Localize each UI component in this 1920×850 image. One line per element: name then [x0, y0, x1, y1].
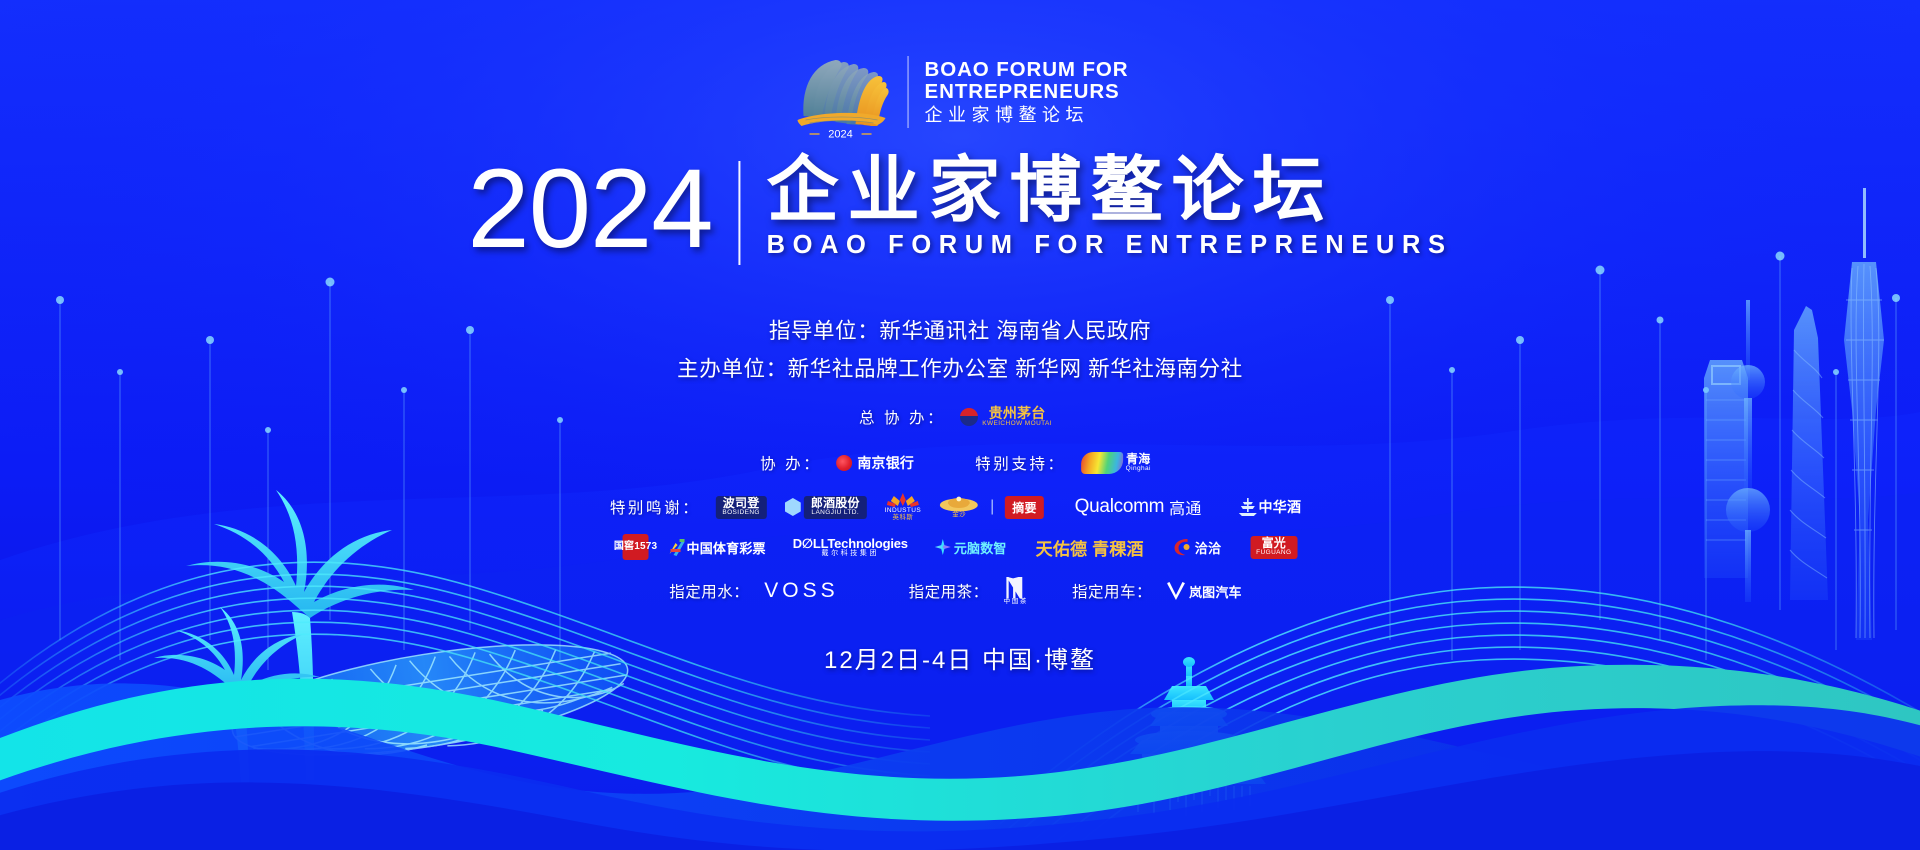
voss-logo-en: VOSS: [764, 579, 838, 603]
qualcomm-logo-en: Qualcomm: [1075, 496, 1164, 518]
qiaqia-logo[interactable]: 洽洽: [1173, 532, 1221, 562]
lockup-en-line1: BOAO FORUM FOR: [925, 59, 1129, 81]
bosideng-logo[interactable]: 波司登 BOSIDENG: [715, 494, 767, 520]
lockup-divider: [908, 56, 909, 128]
sponsor-row-xieban: 协 办： 南京银行 特别支持： 青海 Qinghai: [760, 448, 1160, 478]
sponsor-row-zongxieban-label: 总 协 办：: [859, 406, 945, 428]
zhonghua-jiu-logo[interactable]: 中华酒: [1237, 492, 1302, 522]
langjiu-logo-cn: 郎酒股份: [811, 497, 860, 510]
guojiao-logo-cn: 国窖1573: [614, 542, 657, 553]
forum-emblem-icon: 2024: [792, 46, 892, 138]
bank-of-nanjing-logo[interactable]: 南京银行: [836, 448, 914, 478]
tianyoude-logo-cn: 天佑德 青稞酒: [1036, 535, 1144, 560]
moutai-logo-en: KWEICHOW MOUTAI: [982, 421, 1052, 428]
qiaqia-logo-cn: 洽洽: [1195, 538, 1221, 557]
indus-burst-icon: [886, 492, 920, 508]
tianyoude-logo[interactable]: 天佑德 青稞酒: [1036, 532, 1144, 562]
zhuyeqing-logo-en: 中国茶: [1004, 599, 1028, 606]
qinghai-logo-en: Qinghai: [1126, 466, 1151, 473]
kweichow-moutai-logo[interactable]: 贵州茅台 KWEICHOW MOUTAI: [960, 402, 1052, 432]
qinghai-ribbon-icon: [1081, 452, 1123, 474]
sponsor-row-special-support-label: 特别支持：: [975, 452, 1066, 474]
jinsha-crown-icon: [939, 496, 979, 512]
dell-logo-en: D∅LLTechnologies: [793, 537, 908, 551]
sponsor-row-xieban-label: 协 办：: [760, 452, 821, 474]
poster-stage: 2024 BOAO FORUM FOR ENTREPRENEURS 企业家博鳌论…: [0, 0, 1920, 850]
forum-logo-lockup: 2024 BOAO FORUM FOR ENTREPRENEURS 企业家博鳌论…: [792, 46, 1129, 138]
zhonghua-jiu-logo-cn: 中华酒: [1259, 497, 1302, 517]
yuannao-logo[interactable]: 元脑数智: [935, 534, 1007, 560]
designated-car-label: 指定用车：: [1072, 580, 1152, 602]
sponsor-row-mingxie-label: 特别鸣谢：: [610, 496, 701, 518]
designated-tea-label: 指定用茶：: [909, 580, 989, 602]
zhaiyao-logo-cn: 摘要: [1012, 499, 1036, 516]
moutai-seal-icon: [960, 408, 978, 426]
hero-year: 2024: [467, 155, 738, 263]
indus-logo[interactable]: INDUSTUS 英科斯: [885, 494, 921, 520]
fuguang-logo-en: FUGUANG: [1256, 550, 1291, 557]
bank-of-nanjing-logo-cn: 南京银行: [857, 453, 914, 473]
hero-title-en: BOAO FORUM FOR ENTREPRENEURS: [767, 231, 1453, 260]
qualcomm-logo-cn: 高通: [1169, 495, 1201, 519]
sponsor-row-mingxie-2: 国窖1573 中国体育彩票 D∅LLTechnologies 戴尔科技集团: [614, 532, 1307, 562]
voyah-logo[interactable]: 岚图汽车: [1167, 576, 1242, 606]
emblem-year-text: 2024: [828, 129, 852, 139]
dell-technologies-logo[interactable]: D∅LLTechnologies 戴尔科技集团: [793, 534, 908, 560]
china-sports-lottery-logo[interactable]: 中国体育彩票: [667, 534, 766, 560]
nanjing-rose-icon: [836, 455, 852, 471]
langjiu-mark-icon: [785, 498, 801, 516]
voyah-logo-cn: 岚图汽车: [1189, 582, 1242, 601]
yuannao-logo-cn: 元脑数智: [954, 538, 1007, 557]
moutai-logo-cn: 贵州茅台: [989, 406, 1046, 421]
indus-logo-cn: 英科斯: [893, 515, 914, 522]
china-sports-lottery-logo-cn: 中国体育彩票: [687, 538, 766, 557]
langjiu-logo-en: LANGJIU LTD.: [811, 510, 859, 517]
sponsor-row-mingxie-1: 特别鸣谢： 波司登 BOSIDENG 郎酒股份 LANGJIU LTD.: [610, 492, 1310, 522]
hero-title-block: 2024 企业家博鳌论坛 BOAO FORUM FOR ENTREPRENEUR…: [467, 155, 1452, 265]
jinsha-logo-cn: 金沙: [952, 512, 966, 519]
zhonghua-ship-icon: [1237, 496, 1259, 518]
yuannao-star-icon: [935, 539, 951, 555]
sponsor-row-zongxieban: 总 协 办： 贵州茅台 KWEICHOW MOUTAI: [859, 402, 1061, 432]
sponsor-row-designated: 指定用水： VOSS 指定用茶： 中国茶 指定用车： 岚图汽车: [669, 576, 1251, 606]
date-location-line: 12月2日-4日 中国·博鳌: [824, 640, 1096, 675]
designated-water-label: 指定用水：: [669, 580, 749, 602]
zhaiyao-logo[interactable]: 摘要: [1005, 494, 1043, 520]
host-unit-line: 主办单位：新华社品牌工作办公室 新华网 新华社海南分社: [677, 352, 1243, 383]
voyah-mark-icon: [1167, 582, 1185, 600]
zhuyeqing-bamboo-icon: [1004, 577, 1024, 599]
guidance-unit-line: 指导单位：新华通讯社 海南省人民政府: [769, 314, 1151, 345]
qinghai-logo-cn: 青海: [1126, 453, 1150, 466]
guojiao-logo[interactable]: 国窖1573: [623, 534, 649, 560]
bosideng-logo-cn: 波司登: [723, 497, 760, 510]
qualcomm-logo[interactable]: Qualcomm 高通: [1075, 492, 1202, 522]
hero-title-cn: 企业家博鳌论坛: [767, 155, 1453, 227]
langjiu-logo[interactable]: 郎酒股份 LANGJIU LTD.: [785, 494, 867, 520]
jinsha-logo[interactable]: 金沙: [939, 494, 979, 520]
sports-lottery-mark-icon: [667, 537, 687, 557]
bosideng-logo-en: BOSIDENG: [722, 510, 760, 517]
dell-logo-cn: 戴尔科技集团: [821, 550, 879, 557]
qiaqia-mark-icon: [1173, 537, 1195, 557]
zhuyeqing-logo[interactable]: 中国茶: [1004, 576, 1028, 606]
fuguang-logo-cn: 富光: [1262, 537, 1286, 550]
qinghai-logo[interactable]: 青海 Qinghai: [1081, 448, 1151, 478]
lockup-cn-line: 企业家博鳌论坛: [925, 106, 1129, 125]
hero-divider: [739, 161, 741, 265]
lockup-en-line2: ENTREPRENEURS: [925, 81, 1129, 103]
fuguang-logo[interactable]: 富光 FUGUANG: [1250, 534, 1297, 560]
voss-logo[interactable]: VOSS: [764, 576, 838, 606]
